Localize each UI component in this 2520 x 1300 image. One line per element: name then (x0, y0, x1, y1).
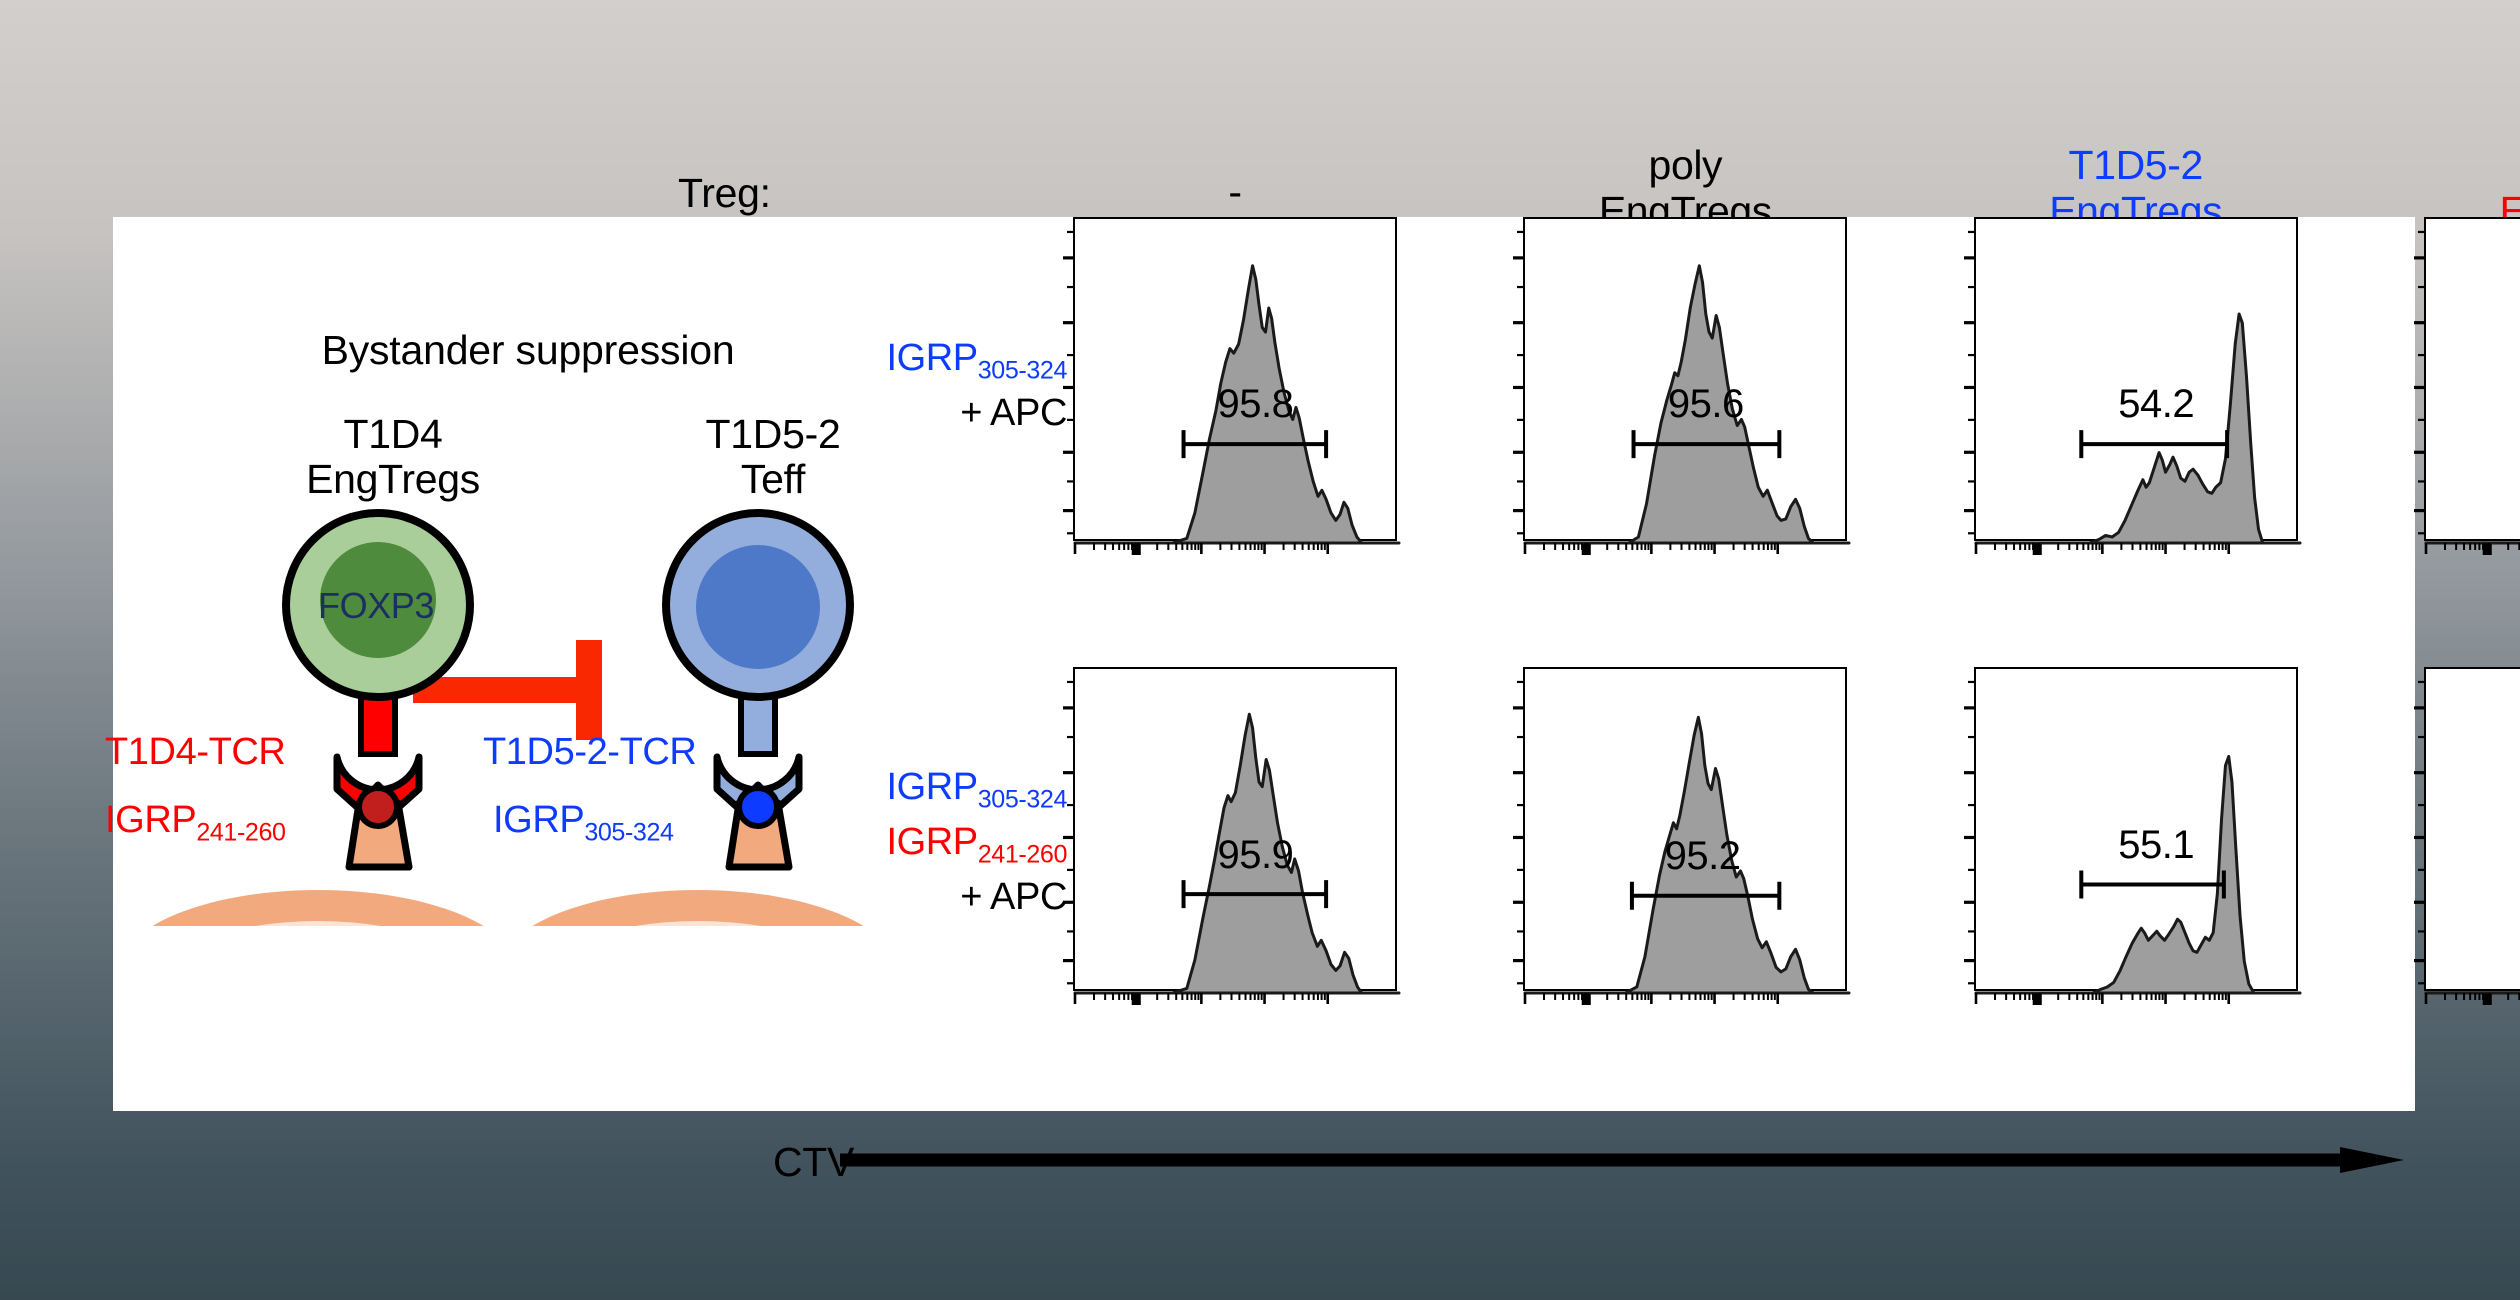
column-header-3-line1: T1D4 (2424, 142, 2520, 188)
gate-percentage-label: 95.6 (1668, 382, 1744, 427)
row-label-1-line-2-text: + APC (960, 876, 1067, 918)
schematic-title: Bystander suppression (113, 327, 943, 374)
figure-background: Bystander suppression T1D4 EngTregs T1D5… (0, 0, 2520, 1300)
row-label-0-line-0-text: IGRP (886, 337, 977, 379)
gate-bar (2081, 871, 2224, 899)
igrp-241-260-sub: 241-260 (196, 819, 285, 847)
x-axis-arrow-icon (840, 1147, 2404, 1173)
flow-cytometry-grid: Treg: -polyEngTregsT1D5-2EngTregsT1D4Eng… (1073, 217, 2415, 1111)
figure-card: Bystander suppression T1D4 EngTregs T1D5… (113, 217, 2415, 1111)
row-label-1-line-1: IGRP241-260 (886, 821, 1067, 876)
column-header-0-line1: - (1073, 169, 1397, 215)
igrp-241-260-label: IGRP241-260 (105, 799, 286, 848)
right-cell-caption: T1D5-2 Teff (623, 412, 923, 502)
histogram-trace (2426, 669, 2520, 1009)
igrp-305-324-sub: 305-324 (584, 819, 673, 847)
histogram-panel-r0-c3[interactable]: 83.6 (2424, 217, 2520, 541)
apc-dome-right (493, 852, 913, 972)
left-cell-caption: T1D4 EngTregs (243, 412, 543, 502)
row-label-1-line-0-text: IGRP (886, 766, 977, 808)
t1d4-tcr-label: T1D4-TCR (105, 731, 285, 774)
row-label-1-line-1-text: IGRP (886, 821, 977, 863)
foxp3-nucleus-label: FOXP3 (318, 585, 434, 627)
gate-percentage-label: 55.1 (2118, 823, 2194, 868)
gate-percentage-label: 54.2 (2118, 382, 2194, 427)
row-label-0-line-1-text: + APC (960, 392, 1067, 434)
histogram-panel-r0-c2[interactable]: 54.2 (1974, 217, 2298, 541)
row-label-0-line-0-sub: 305-324 (978, 357, 1067, 385)
histogram-panel-r1-c0[interactable]: 95.9 (1073, 667, 1397, 991)
left-cell-caption-line1: T1D4 (243, 412, 543, 457)
t1d5-2-tcr-label: T1D5-2-TCR (483, 731, 696, 774)
column-header-1-line1: poly (1523, 142, 1847, 188)
row-label-1-line-0-sub: 305-324 (978, 786, 1067, 814)
right-cell-caption-line2: Teff (623, 457, 923, 502)
igrp-241-260-text: IGRP (105, 799, 196, 841)
igrp-305-324-label: IGRP305-324 (493, 799, 674, 848)
row-label-1-line-2: + APC (886, 876, 1067, 918)
gate-percentage-label: 95.8 (1218, 382, 1294, 427)
row-label-1: IGRP305-324IGRP241-260+ APC (886, 766, 1067, 917)
histogram-trace (2426, 219, 2520, 559)
column-header-0: - (1073, 169, 1397, 215)
right-cell-caption-line1: T1D5-2 (623, 412, 923, 457)
gate-bar (2081, 430, 2227, 458)
column-header-2-line1: T1D5-2 (1974, 142, 2298, 188)
histogram-panel-r1-c1[interactable]: 95.2 (1523, 667, 1847, 991)
row-label-0-line-0: IGRP305-324 (886, 337, 1067, 392)
gate-percentage-label: 95.2 (1665, 834, 1741, 879)
histogram-panel-r0-c1[interactable]: 95.6 (1523, 217, 1847, 541)
gate-percentage-label: 95.9 (1218, 833, 1294, 878)
histogram-panel-r1-c2[interactable]: 55.1 (1974, 667, 2298, 991)
treg-row-label: Treg: (678, 170, 771, 217)
row-label-1-line-0: IGRP305-324 (886, 766, 1067, 821)
row-label-0-line-1: + APC (886, 392, 1067, 434)
left-cell-caption-line2: EngTregs (243, 457, 543, 502)
apc-dome-left (113, 852, 533, 972)
row-label-1-line-1-sub: 241-260 (978, 841, 1067, 869)
row-label-0: IGRP305-324+ APC (886, 337, 1067, 434)
histogram-panel-r0-c0[interactable]: 95.8 (1073, 217, 1397, 541)
histogram-panel-r1-c3[interactable]: 57.7 (2424, 667, 2520, 991)
igrp-305-324-text: IGRP (493, 799, 584, 841)
